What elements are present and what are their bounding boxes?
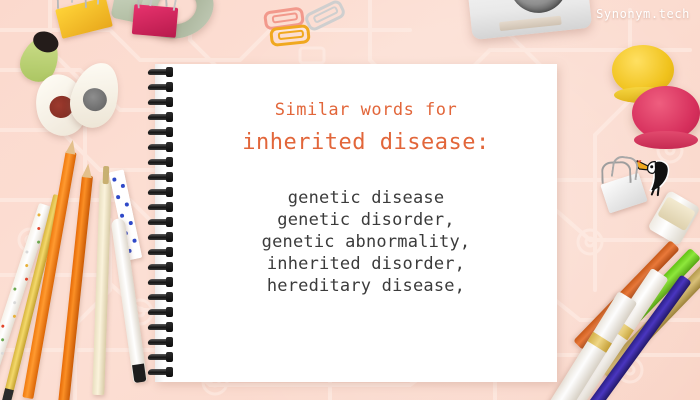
camera-grip (499, 16, 562, 31)
pen-decoration-dot (37, 213, 41, 217)
synonym-item: genetic disease (175, 187, 557, 209)
heading-similar-words-for: Similar words for (175, 100, 557, 121)
synonym-item: genetic abnormality, (175, 231, 557, 253)
synonym-item: hereditary disease, (175, 275, 557, 297)
notepad-scene: Similar words for inherited disease: gen… (0, 0, 700, 400)
spiral-ring (148, 369, 182, 375)
synonym-list: genetic diseasegenetic disorder,genetic … (175, 187, 557, 297)
binder-clip-pink (132, 4, 178, 38)
pen-decoration-dot (1, 324, 5, 328)
pen-decoration-dot (13, 301, 17, 305)
macaron-pink (632, 86, 700, 140)
spiral-ring (148, 309, 182, 315)
spiral-ring (148, 354, 182, 360)
spiral-ring (148, 324, 182, 330)
synonym-item: genetic disorder, (175, 209, 557, 231)
synonym-item: inherited disorder, (175, 253, 557, 275)
heading-target-word: inherited disease: (175, 129, 557, 157)
spiral-ring (148, 339, 182, 345)
pen-decoration-dot (25, 250, 29, 254)
camera-lens (506, 0, 570, 16)
pen-decoration-dot (37, 227, 41, 231)
notepad-content: Similar words for inherited disease: gen… (175, 64, 557, 297)
pen-decoration-dot (25, 264, 29, 268)
pen-decoration-dot (1, 338, 5, 342)
pen-decoration-dot (13, 287, 17, 291)
site-watermark: Synonym.tech (596, 7, 690, 21)
